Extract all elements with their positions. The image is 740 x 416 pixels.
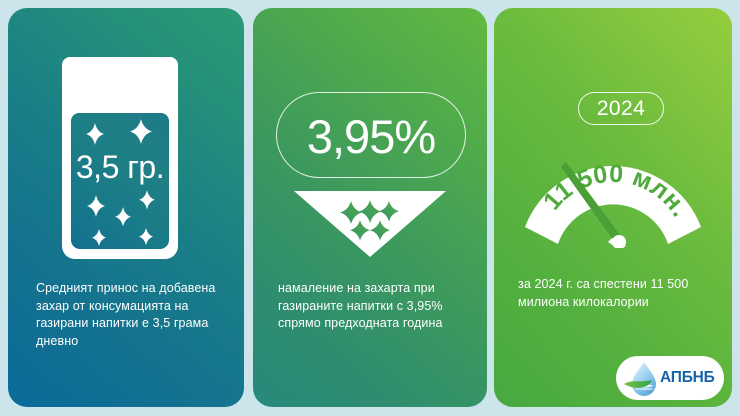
percent-badge: 3,95% <box>276 92 466 178</box>
card-sugar-per-day: 3,5 гр. Средният принос на добавена заха… <box>8 8 244 407</box>
down-triangle-icon <box>294 191 446 257</box>
glass-value-label: 3,5 гр. <box>62 149 178 186</box>
year-badge: 2024 <box>578 92 664 125</box>
drinking-glass-icon: 3,5 гр. <box>62 57 190 269</box>
percent-value-label: 3,95% <box>277 93 465 179</box>
card-caption: намаление на захарта при газираните напи… <box>278 280 468 333</box>
card-caption: Средният принос на добавена захар от кон… <box>36 280 216 350</box>
apbnb-logo[interactable]: АПБНБ <box>616 356 724 400</box>
gauge-icon: 11 500 млн. <box>500 126 726 248</box>
card-calories-saved: 2024 11 500 млн. <box>494 8 732 407</box>
year-badge-label: 2024 <box>597 97 645 121</box>
infographic-canvas: 3,5 гр. Средният принос на добавена заха… <box>0 0 740 416</box>
card-sugar-reduction: 3,95% <box>253 8 487 407</box>
apbnb-logo-text: АПБНБ <box>660 369 715 387</box>
card-caption: за 2024 г. са спестени 11 500 милиона ки… <box>518 276 698 311</box>
